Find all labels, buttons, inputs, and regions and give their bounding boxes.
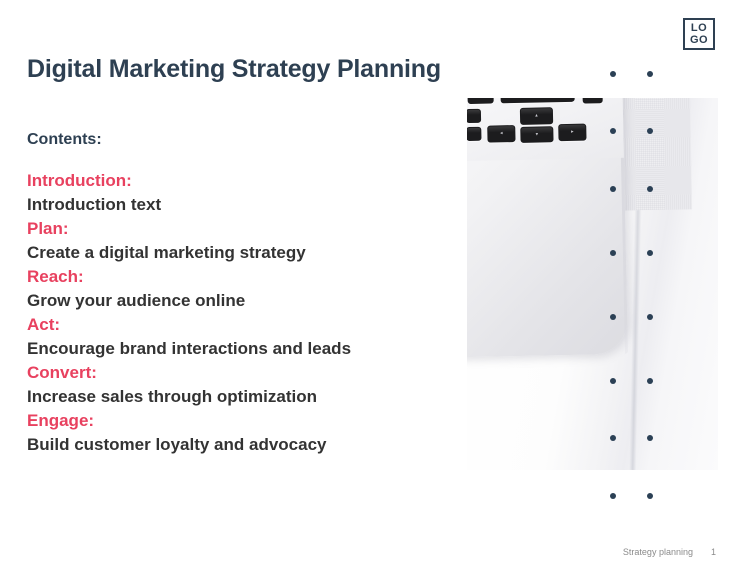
page-number: 1 xyxy=(711,547,716,557)
contents-entry-heading: Plan: xyxy=(27,217,447,241)
logo-line-2: GO xyxy=(690,35,708,46)
arrow-left-icon: ◂ xyxy=(487,131,515,137)
contents-entry-heading: Engage: xyxy=(27,409,447,433)
footer: Strategy planning 1 xyxy=(623,547,716,557)
keyboard-key-function xyxy=(467,127,482,141)
contents-entry-text: Encourage brand interactions and leads xyxy=(27,337,447,361)
arrow-right-key: ▸ xyxy=(558,124,586,142)
laptop-photo: ⏻ ◂ ▴ ▾ ▸ xyxy=(467,98,718,470)
key-sheen xyxy=(467,128,480,134)
laptop-body: ⏻ ◂ ▴ ▾ ▸ xyxy=(467,98,628,358)
arrow-right-icon: ▸ xyxy=(558,130,586,136)
contents-entry-text: Create a digital marketing strategy xyxy=(27,241,447,265)
decorative-dot xyxy=(610,493,616,499)
contents-list: Introduction: Introduction text Plan: Cr… xyxy=(27,169,447,457)
decorative-dot xyxy=(647,71,653,77)
contents-entry-heading: Introduction: xyxy=(27,169,447,193)
keyboard-key-partial xyxy=(467,98,493,104)
arrow-up-key: ▴ xyxy=(520,107,553,125)
contents-entry-heading: Reach: xyxy=(27,265,447,289)
page-title: Digital Marketing Strategy Planning xyxy=(27,55,441,84)
arrow-left-key: ◂ xyxy=(487,125,515,143)
footer-label: Strategy planning xyxy=(623,547,693,557)
arrow-down-key: ▾ xyxy=(520,126,553,143)
contents-entry-text: Build customer loyalty and advocacy xyxy=(27,433,447,457)
arrow-up-icon: ▴ xyxy=(520,113,553,119)
slide: LO GO Digital Marketing Strategy Plannin… xyxy=(0,0,743,575)
logo-line-1: LO xyxy=(691,23,707,34)
decorative-dot xyxy=(610,71,616,77)
contents-entry-text: Introduction text xyxy=(27,193,447,217)
keyboard-key-partial xyxy=(500,98,574,103)
contents-entry-text: Increase sales through optimization xyxy=(27,385,447,409)
contents-entry-heading: Act: xyxy=(27,313,447,337)
logo: LO GO xyxy=(683,18,715,50)
keyboard-deck: ⏻ ◂ ▴ ▾ ▸ xyxy=(467,98,624,161)
contents-entry-heading: Convert: xyxy=(27,361,447,385)
arrow-down-icon: ▾ xyxy=(520,132,553,138)
decorative-dot xyxy=(647,493,653,499)
contents-label: Contents: xyxy=(27,131,102,149)
contents-entry-text: Grow your audience online xyxy=(27,289,447,313)
power-key: ⏻ xyxy=(582,98,602,104)
keyboard-key-function xyxy=(467,109,481,123)
key-sheen xyxy=(467,110,480,116)
